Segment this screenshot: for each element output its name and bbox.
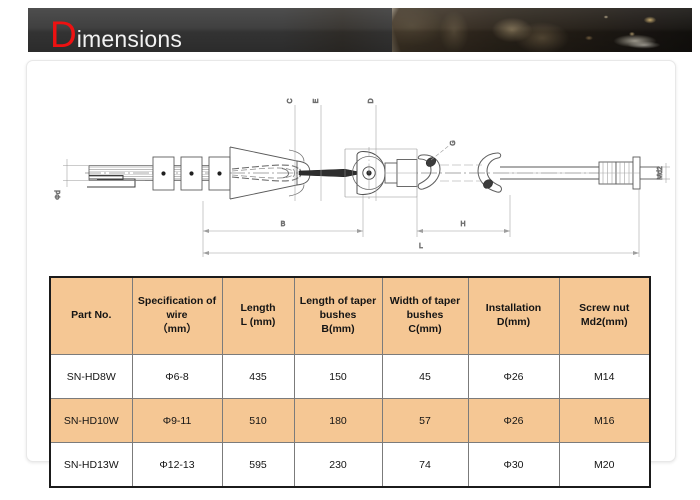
cell-length: 435 [222,355,294,399]
cell-part-no: SN-HD8W [50,355,132,399]
cell-specification-of-wire: Φ9-11 [132,399,222,443]
header-line: wire [166,309,187,321]
drawing-label-total-length: L [419,243,423,250]
drawing-label-wire-diameter: Φd [55,190,62,200]
cell-screw-nut: M14 [559,355,650,399]
header-line: B(mm) [321,323,354,335]
header-line: Part No. [71,309,111,321]
header-line: Length [241,302,276,314]
drawing-label-turnbuckle: G [450,140,457,145]
header-line: Specification of [138,295,216,307]
table-header-row: Part No. Specification of wire （mm） Leng… [50,277,650,355]
header-line: Md2(mm) [581,316,628,328]
header-line: bushes [320,309,357,321]
cell-installation: Φ30 [468,443,559,488]
drawing-label-installation: D [368,98,375,103]
dimensions-spec-table-container: Part No. Specification of wire （mm） Leng… [49,276,649,488]
page-header-banner: D imensions [28,8,692,52]
column-header-part-no: Part No. [50,277,132,355]
cell-width-of-taper-bushes: 45 [382,355,468,399]
column-header-specification-of-wire: Specification of wire （mm） [132,277,222,355]
cell-screw-nut: M16 [559,399,650,443]
header-line: L (mm) [241,316,276,328]
content-card: G [26,60,676,462]
header-line: （mm） [157,323,197,335]
wire-rope-assembly-dimension-drawing: G [27,83,675,263]
table-row: SN-HD10W Φ9-11 510 180 57 Φ26 M16 [50,399,650,443]
cell-part-no: SN-HD13W [50,443,132,488]
header-line: Width of taper [390,295,460,307]
column-header-installation: Installation D(mm) [468,277,559,355]
column-header-length-of-taper-bushes: Length of taper bushes B(mm) [294,277,382,355]
cell-specification-of-wire: Φ12-13 [132,443,222,488]
cell-length-of-taper-bushes: 150 [294,355,382,399]
drawing-label-taper-bush-length: B [281,221,286,228]
column-header-length: Length L (mm) [222,277,294,355]
cell-installation: Φ26 [468,399,559,443]
drawing-label-taper-bush-width: C [287,98,294,103]
header-line: bushes [407,309,444,321]
header-line: D(mm) [497,316,530,328]
page-title: D imensions [50,8,182,52]
page-title-initial: D [50,16,77,52]
header-line: Length of taper [300,295,376,307]
header-line: C(mm) [408,323,441,335]
table-row: SN-HD8W Φ6-8 435 150 45 Φ26 M14 [50,355,650,399]
cell-part-no: SN-HD10W [50,399,132,443]
cell-screw-nut: M20 [559,443,650,488]
drawing-label-screw-nut: Md2 [657,166,664,180]
cell-length-of-taper-bushes: 180 [294,399,382,443]
dimensions-spec-table: Part No. Specification of wire （mm） Leng… [49,276,651,488]
table-row: SN-HD13W Φ12-13 595 230 74 Φ30 M20 [50,443,650,488]
cell-length: 595 [222,443,294,488]
drawing-label-mid-section: E [313,98,320,103]
cell-length: 510 [222,399,294,443]
drawing-label-hook-length: H [460,221,465,228]
cell-specification-of-wire: Φ6-8 [132,355,222,399]
header-line: Screw nut [579,302,629,314]
column-header-width-of-taper-bushes: Width of taper bushes C(mm) [382,277,468,355]
cell-installation: Φ26 [468,355,559,399]
cell-length-of-taper-bushes: 230 [294,443,382,488]
column-header-screw-nut: Screw nut Md2(mm) [559,277,650,355]
cell-width-of-taper-bushes: 57 [382,399,468,443]
header-line: Installation [486,302,541,314]
cell-width-of-taper-bushes: 74 [382,443,468,488]
page-title-rest: imensions [77,28,182,51]
